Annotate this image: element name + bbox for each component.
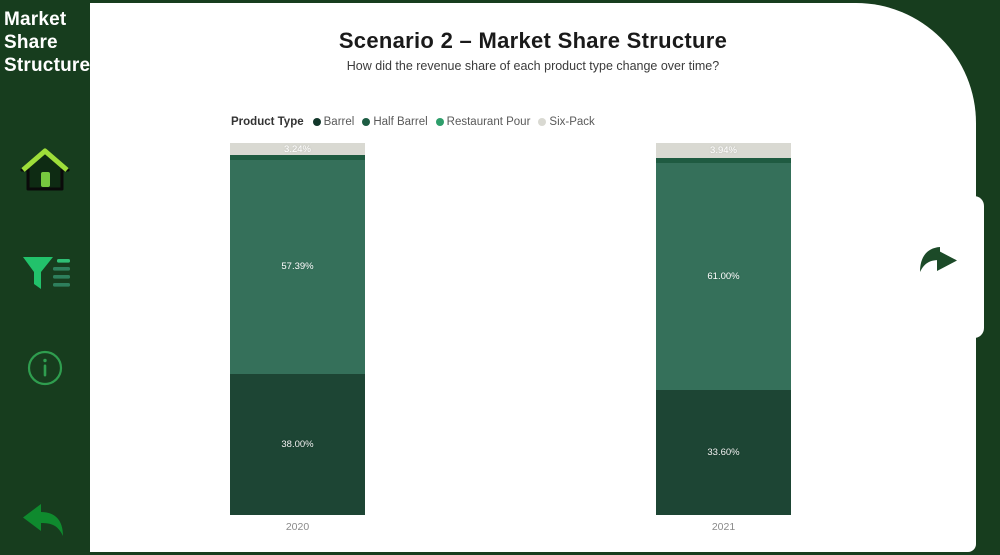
legend-swatch	[362, 118, 370, 126]
forward-arrow-icon	[911, 244, 961, 291]
bar-group-2021: 3.94% 61.00% 33.60% 2021	[656, 143, 791, 515]
legend-label: Six-Pack	[549, 116, 594, 128]
bar-segment-restaurant-pour[interactable]: 57.39%	[230, 160, 365, 373]
legend-item-six-pack[interactable]: Six-Pack	[538, 116, 594, 128]
bar-segment-label: 61.00%	[707, 271, 739, 282]
home-icon	[18, 146, 72, 199]
legend-swatch	[538, 118, 546, 126]
bar-segment-six-pack[interactable]: 3.94%	[656, 143, 791, 158]
bar-segment-half-barrel[interactable]: 38.00%	[230, 374, 365, 515]
content-panel: Scenario 2 – Market Share Structure How …	[90, 3, 976, 552]
sidebar-item-filter[interactable]	[0, 245, 90, 305]
legend-title: Product Type	[231, 116, 304, 128]
legend-swatch	[313, 118, 321, 126]
bar-segment-six-pack[interactable]: 3.24%	[230, 143, 365, 155]
stacked-bar-chart: 3.24% 57.39% 38.00% 2020 3.94%	[190, 143, 910, 515]
axis-tick-label: 2021	[656, 521, 791, 533]
legend-swatch	[436, 118, 444, 126]
page-title: Scenario 2 – Market Share Structure	[90, 28, 976, 54]
sidebar-item-info[interactable]	[0, 340, 90, 400]
chart-legend: Product Type Barrel Half Barrel Restaura…	[231, 116, 603, 128]
legend-item-half-barrel[interactable]: Half Barrel	[362, 116, 427, 128]
table-row[interactable]: 3.24% 57.39% 38.00%	[230, 143, 365, 515]
back-arrow-icon	[17, 494, 73, 547]
bar-segment-restaurant-pour[interactable]: 61.00%	[656, 163, 791, 390]
page-subtitle: How did the revenue share of each produc…	[90, 59, 976, 73]
bar-segment-label: 57.39%	[281, 261, 313, 272]
legend-label: Half Barrel	[373, 116, 427, 128]
sidebar: Market Share Structure	[0, 0, 90, 555]
legend-item-restaurant-pour[interactable]: Restaurant Pour	[436, 116, 531, 128]
sidebar-item-back[interactable]	[0, 490, 90, 550]
bar-segment-label: 3.94%	[710, 145, 737, 156]
table-row[interactable]: 3.94% 61.00% 33.60%	[656, 143, 791, 515]
bar-segment-label: 3.24%	[284, 144, 311, 155]
legend-item-barrel[interactable]: Barrel	[313, 116, 355, 128]
next-page-button[interactable]	[888, 196, 984, 338]
bar-segment-label: 38.00%	[281, 439, 313, 450]
bar-segment-half-barrel[interactable]: 33.60%	[656, 390, 791, 515]
sidebar-title: Market Share Structure	[4, 8, 90, 77]
sidebar-item-home[interactable]	[0, 142, 90, 202]
bar-segment-label: 33.60%	[707, 447, 739, 458]
legend-label: Restaurant Pour	[447, 116, 531, 128]
bar-group-2020: 3.24% 57.39% 38.00% 2020	[230, 143, 365, 515]
axis-tick-label: 2020	[230, 521, 365, 533]
legend-label: Barrel	[324, 116, 355, 128]
info-icon	[25, 348, 65, 393]
filter-icon	[19, 251, 71, 300]
